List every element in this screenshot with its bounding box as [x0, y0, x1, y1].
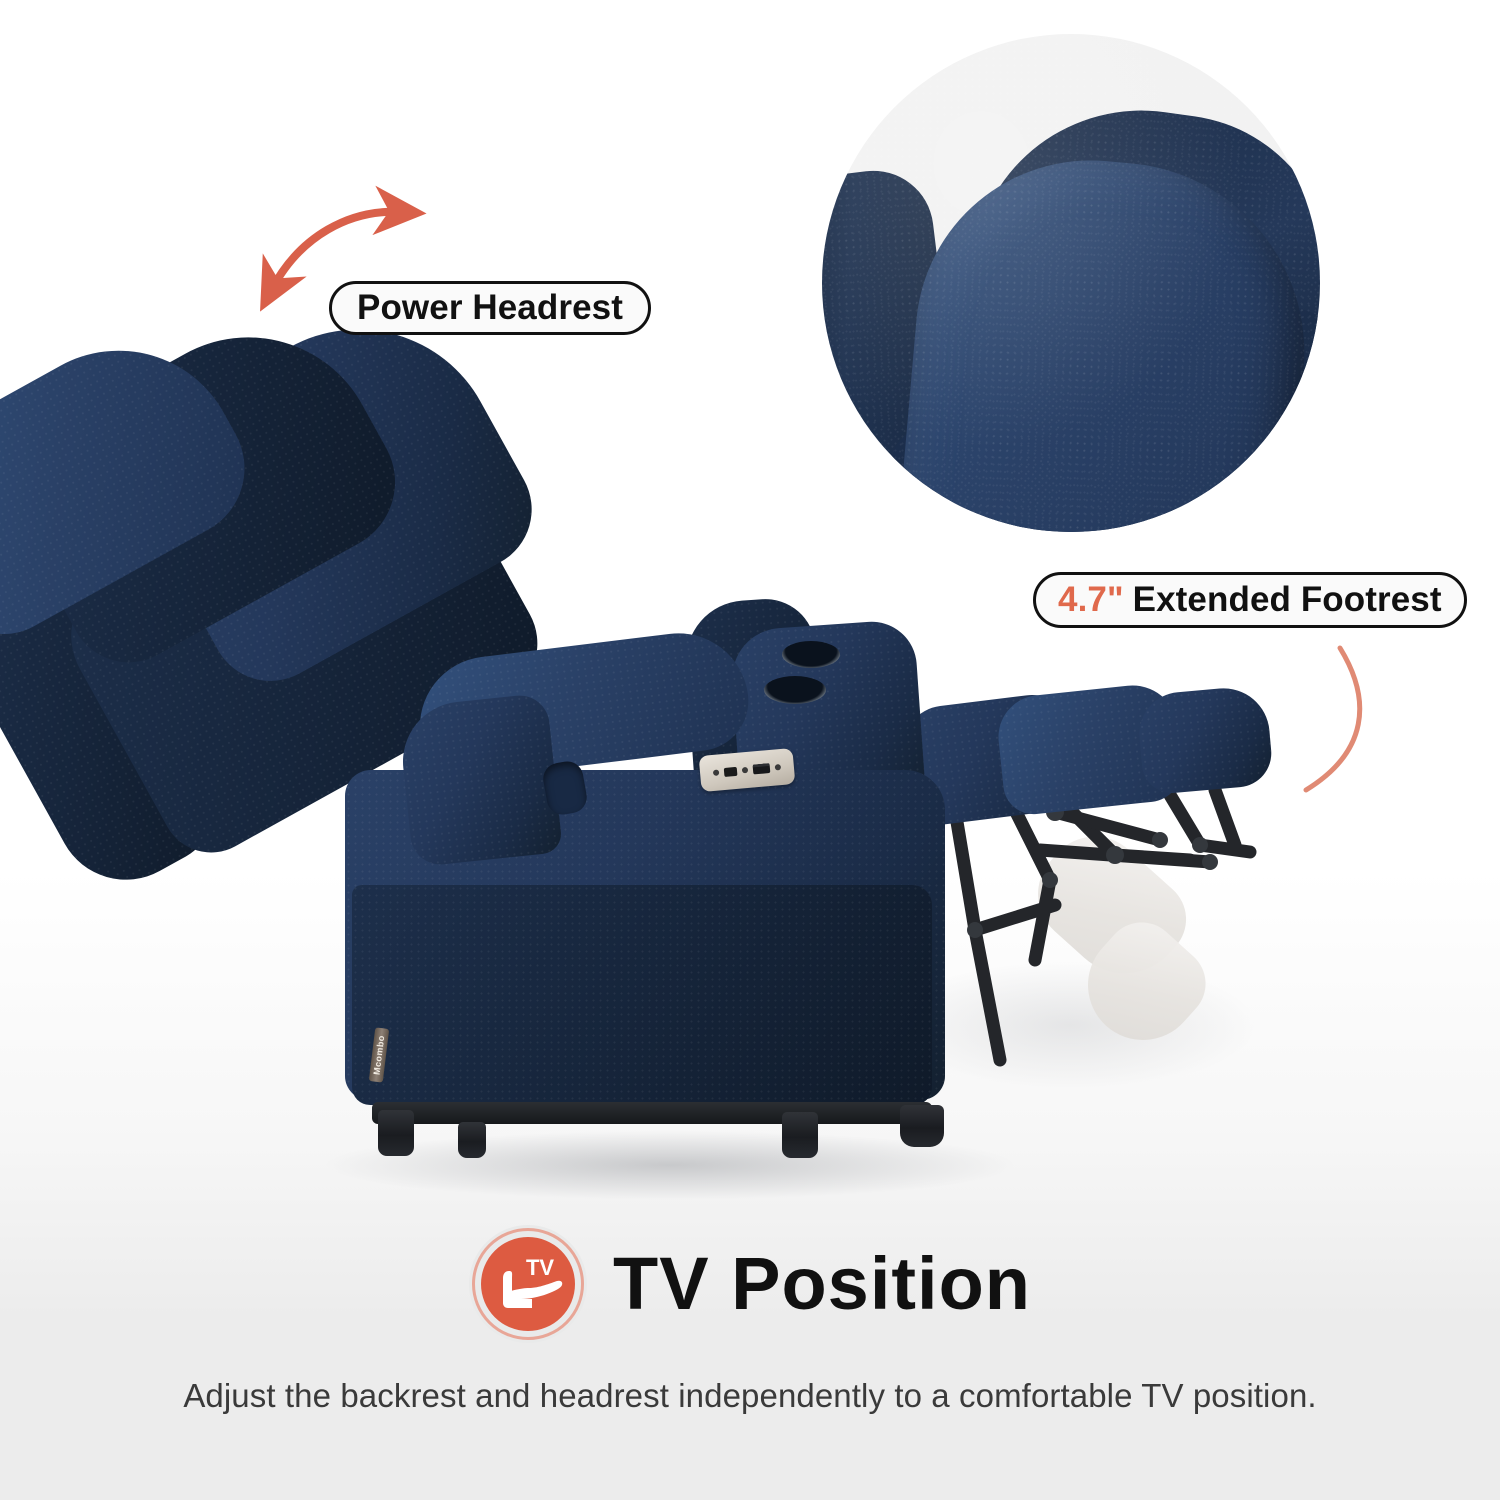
footrest-cushion-3 [1136, 685, 1274, 796]
callout-extended-footrest-label: Extended Footrest [1133, 580, 1442, 620]
cup-holder-1 [782, 641, 840, 668]
infographic-canvas: Mcombo Power Headrest [0, 0, 1500, 1500]
callout-footrest-measurement: 4.7" [1058, 580, 1124, 620]
usb-port-icon[interactable] [753, 763, 771, 774]
status-light-icon [775, 764, 782, 771]
cup-holder-2 [764, 676, 826, 704]
chair-floor-shadow [320, 1130, 1020, 1200]
usb-indicator-icon [742, 767, 749, 774]
callout-power-headrest[interactable]: Power Headrest [329, 281, 651, 335]
brand-tag-label: Mcombo [372, 1035, 387, 1076]
indicator-light-icon [713, 769, 720, 776]
tv-position-subtitle: Adjust the backrest and headrest indepen… [183, 1377, 1316, 1415]
chair-base-rail [372, 1102, 932, 1124]
armrest-front-panel [397, 693, 563, 868]
callout-extended-footrest[interactable]: 4.7" Extended Footrest [1033, 572, 1467, 628]
seat-apron [352, 885, 932, 1105]
tv-position-heading-row: TV TV Position [469, 1225, 1031, 1343]
footer-caption-block: TV TV Position Adjust the backrest and h… [0, 1225, 1500, 1415]
callout-power-headrest-label: Power Headrest [357, 288, 623, 328]
power-button-icon[interactable] [724, 766, 738, 776]
tv-recliner-icon: TV [469, 1225, 587, 1343]
tv-icon-text: TV [526, 1255, 554, 1280]
tv-position-heading: TV Position [613, 1247, 1031, 1321]
